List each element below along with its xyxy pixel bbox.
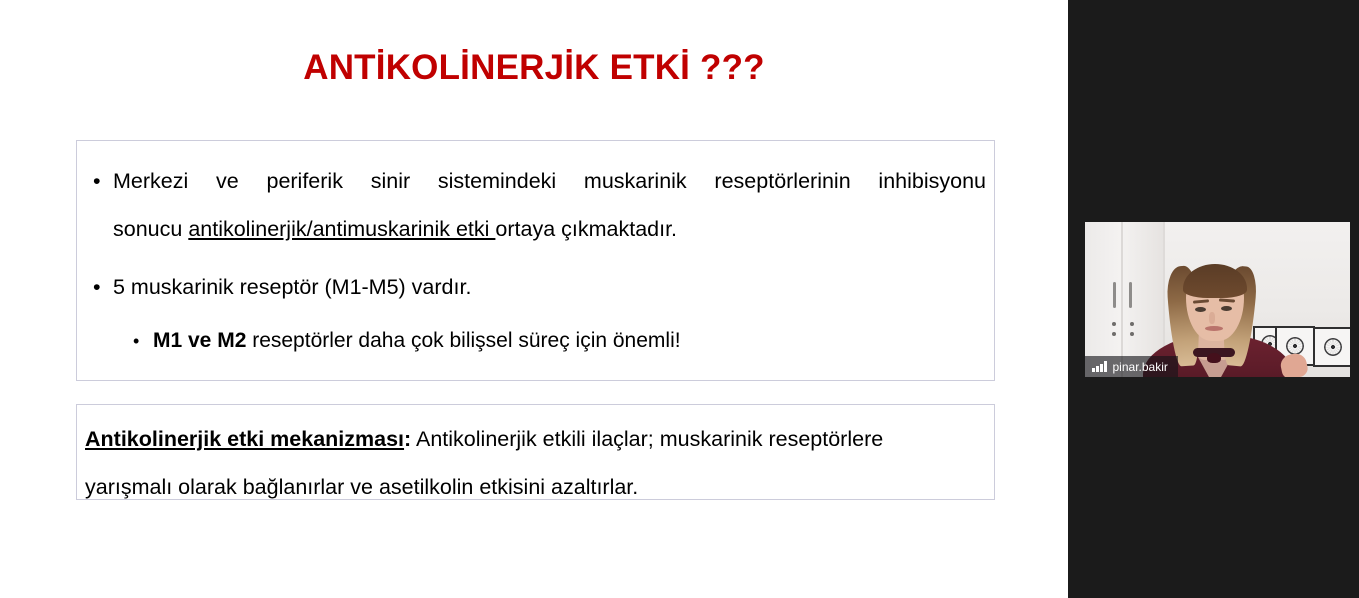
sub-bullet-bold-term: M1 ve M2 [153,329,246,352]
sub-bullet-text: reseptörler daha çok bilişsel süreç için… [246,329,680,352]
mechanism-textbox: Antikolinerjik etki mekanizması: Antikol… [76,404,995,500]
list-item: • 5 muskarinik reseptör (M1-M5) vardır. [85,263,986,311]
bullet-marker: • [133,317,139,365]
mechanism-line-2: yarışmalı olarak bağlanırlar ve asetilko… [85,463,984,511]
slide-body-textbox: • Merkezi ve periferik sinir sistemindek… [76,140,995,381]
bullet-marker: • [93,263,101,311]
participant-name-label: pinar.bakir [1113,360,1168,374]
participant-name-badge: pinar.bakir [1085,356,1178,377]
video-feed [1085,222,1350,377]
bullet-1-line-2-suffix: ortaya çıkmaktadır. [495,217,677,241]
mechanism-heading: Antikolinerjik etki mekanizması [85,427,404,451]
presentation-slide: ANTİKOLİNERJİK ETKİ ??? • Merkezi ve per… [0,0,1068,598]
page-title: ANTİKOLİNERJİK ETKİ ??? [0,48,1068,88]
bullet-1-line-1: Merkezi ve periferik sinir sistemindeki … [113,157,986,205]
participant-video-tile[interactable]: pinar.bakir [1085,222,1350,377]
bullet-marker: • [93,157,101,205]
bullet-2-text: 5 muskarinik reseptör (M1-M5) vardır. [113,275,471,299]
bullet-1-underlined-term: antikolinerjik/antimuskarinik etki [188,217,495,241]
participant-figure [1085,222,1350,377]
signal-bars-icon [1092,361,1107,372]
mechanism-body-line-1: Antikolinerjik etkili ilaçlar; muskarini… [411,427,883,451]
mechanism-line-1: Antikolinerjik etki mekanizması: Antikol… [85,415,984,463]
bullet-1-line-2-prefix: sonucu [113,217,188,241]
list-item-sub: • M1 ve M2 reseptörler daha çok bilişsel… [85,317,986,365]
bullet-1-line-2: sonucu antikolinerjik/antimuskarinik etk… [113,205,986,253]
screen: ANTİKOLİNERJİK ETKİ ??? • Merkezi ve per… [0,0,1359,598]
list-item: • Merkezi ve periferik sinir sistemindek… [85,157,986,253]
